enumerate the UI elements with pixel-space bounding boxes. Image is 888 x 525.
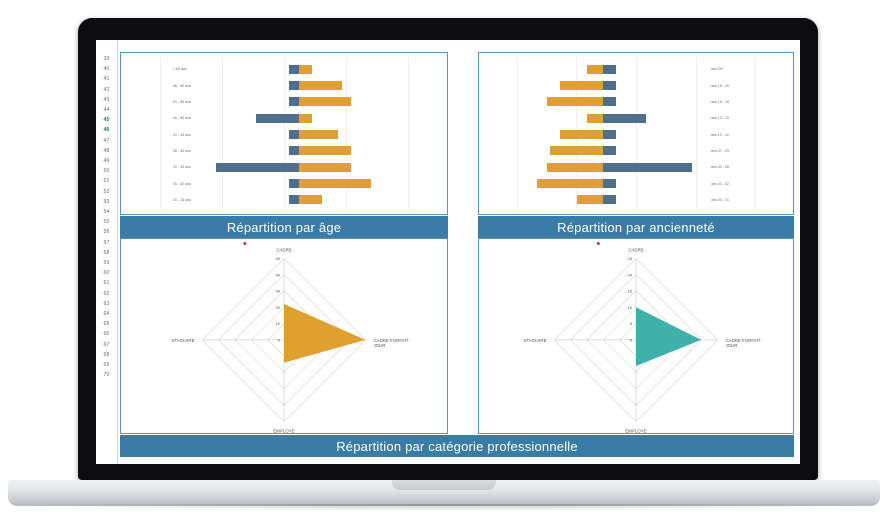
bar-segment-hommes	[289, 195, 299, 204]
bar-row	[121, 146, 447, 155]
radar-tick-label: 20	[276, 305, 281, 310]
bar-category-label: 26 - 30 ans	[173, 182, 191, 186]
bar-row	[479, 130, 793, 139]
bar-category-label: ans 03 - 02	[711, 182, 729, 186]
row-header-45[interactable]: 45	[104, 115, 110, 125]
row-header-65[interactable]: 65	[104, 319, 110, 329]
bar-segment-hommes	[289, 179, 299, 188]
row-header-53[interactable]: 53	[104, 197, 110, 207]
bar-segment-hommes	[603, 65, 616, 74]
bar-row	[121, 179, 447, 188]
radar-tick-label: 5	[630, 321, 633, 326]
bar-category-label: ans 16 - 18	[711, 100, 729, 104]
row-header-51[interactable]: 51	[104, 176, 110, 186]
bar-row	[479, 65, 793, 74]
radar-axis-label: STAGIAIRE	[523, 338, 546, 343]
radar-axis-label: STAGIAIRE	[171, 338, 194, 343]
bar-category-label: ans 13 - 15	[711, 116, 729, 120]
bar-category-label: 46 - 50 ans	[173, 116, 191, 120]
radar-tick-label: 25	[628, 256, 633, 261]
radar-axis-label: CADRE	[628, 247, 643, 252]
row-header-62[interactable]: 62	[104, 289, 110, 299]
row-header-60[interactable]: 60	[104, 268, 110, 278]
bar-segment-femmes	[547, 163, 603, 172]
radar-tick-label: 15	[628, 289, 633, 294]
radar-axis-label: JOUR	[725, 343, 737, 348]
radar-axis-label: JOUR	[373, 343, 385, 348]
bar-segment-femmes	[299, 114, 312, 123]
bar-chart-anciennete: ans 20+ans 18 - 20ans 16 - 18ans 13 - 15…	[479, 53, 793, 214]
radar-tick-label: 10	[276, 321, 281, 326]
bar-segment-hommes	[603, 81, 616, 90]
row-header-48[interactable]: 48	[104, 146, 110, 156]
laptop-shadow	[28, 504, 860, 511]
row-header-57[interactable]: 57	[104, 238, 110, 248]
row-header-42[interactable]: 42	[104, 85, 110, 95]
row-header-70[interactable]: 70	[104, 370, 110, 380]
bar-row	[121, 97, 447, 106]
bar-segment-hommes	[216, 163, 299, 172]
row-header-39[interactable]: 39	[104, 54, 110, 64]
row-header-68[interactable]: 68	[104, 350, 110, 360]
bar-category-label: 56 - 60 ans	[173, 84, 191, 88]
bar-row	[479, 195, 793, 204]
radar-series-area	[284, 304, 365, 363]
radar-tick-label: 30	[276, 289, 281, 294]
bar-category-label: ans 07 - 09	[711, 149, 729, 153]
row-header-61[interactable]: 61	[104, 278, 110, 288]
bar-category-label: 31 - 35 ans	[173, 165, 191, 169]
row-header-54[interactable]: 54	[104, 207, 110, 217]
bar-row	[121, 81, 447, 90]
bar-segment-hommes	[289, 146, 299, 155]
bar-category-label: ans 10 - 12	[711, 133, 729, 137]
row-header-69[interactable]: 69	[104, 360, 110, 370]
radar-tick-label: 20	[628, 272, 633, 277]
laptop-base-notch	[392, 480, 496, 490]
bar-segment-hommes	[289, 65, 299, 74]
bar-chart-age: + 60 ans56 - 60 ans51 - 55 ans46 - 50 an…	[121, 53, 447, 214]
bar-segment-femmes	[587, 114, 604, 123]
bar-row	[479, 114, 793, 123]
row-header-56[interactable]: 56	[104, 227, 110, 237]
bar-segment-femmes	[560, 130, 603, 139]
bar-row	[479, 179, 793, 188]
row-header-44[interactable]: 44	[104, 105, 110, 115]
bar-segment-hommes	[289, 130, 299, 139]
chart-panel-categorie-global[interactable]: 01020304050CADRECADRE FORFAITJOUREMPLOYE…	[120, 238, 448, 434]
marker-dot-icon	[597, 242, 600, 245]
bar-segment-femmes	[550, 146, 603, 155]
marker-dot-icon	[243, 242, 246, 245]
bar-segment-femmes	[299, 97, 352, 106]
chart-panel-anciennete[interactable]: ans 20+ans 18 - 20ans 16 - 18ans 13 - 15…	[478, 52, 794, 215]
radar-chart-categorie-detail: 0510152025CADRECADRE FORFAITJOUREMPLOYES…	[479, 239, 793, 433]
bar-row	[479, 146, 793, 155]
row-header-46[interactable]: 46	[104, 125, 110, 135]
bar-segment-hommes	[603, 130, 616, 139]
row-header-64[interactable]: 64	[104, 309, 110, 319]
bar-category-label: 51 - 55 ans	[173, 100, 191, 104]
bar-segment-femmes	[299, 130, 339, 139]
screenshot-stage: 3940414243444546474849505152535455565758…	[0, 0, 888, 525]
bar-segment-hommes	[289, 81, 299, 90]
row-header-50[interactable]: 50	[104, 166, 110, 176]
bar-category-label: 36 - 40 ans	[173, 149, 191, 153]
chart-panel-age[interactable]: + 60 ans56 - 60 ans51 - 55 ans46 - 50 an…	[120, 52, 448, 215]
bar-category-label: 41 - 45 ans	[173, 133, 191, 137]
bar-row	[121, 195, 447, 204]
bar-segment-femmes	[577, 195, 603, 204]
bar-segment-hommes	[603, 163, 692, 172]
bar-row	[121, 163, 447, 172]
row-header-47[interactable]: 47	[104, 136, 110, 146]
row-header-41[interactable]: 41	[104, 74, 110, 84]
bar-category-label: ans 20+	[711, 67, 724, 71]
bar-row	[479, 97, 793, 106]
radar-tick-label: 10	[628, 305, 633, 310]
radar-axis-label: EMPLOYE	[273, 428, 294, 433]
bar-segment-hommes	[289, 97, 299, 106]
bar-segment-femmes	[299, 195, 322, 204]
bar-segment-femmes	[299, 146, 352, 155]
row-header-66[interactable]: 66	[104, 329, 110, 339]
row-header-40[interactable]: 40	[104, 64, 110, 74]
bar-segment-hommes	[603, 195, 616, 204]
laptop-screen: 3940414243444546474849505152535455565758…	[96, 40, 800, 464]
bar-category-label: + 60 ans	[173, 67, 187, 71]
row-header-gutter[interactable]: 3940414243444546474849505152535455565758…	[96, 40, 118, 464]
radar-tick-label: 40	[276, 272, 281, 277]
bar-segment-hommes	[603, 114, 646, 123]
bar-segment-hommes	[603, 146, 616, 155]
bar-segment-hommes	[256, 114, 299, 123]
row-header-59[interactable]: 59	[104, 258, 110, 268]
row-header-52[interactable]: 52	[104, 187, 110, 197]
bar-segment-hommes	[603, 179, 616, 188]
dashboard-grid: + 60 ans56 - 60 ans51 - 55 ans46 - 50 an…	[120, 52, 794, 458]
bar-row	[121, 65, 447, 74]
radar-tick-label: 50	[276, 256, 281, 261]
row-header-55[interactable]: 55	[104, 217, 110, 227]
row-header-63[interactable]: 63	[104, 299, 110, 309]
bar-segment-hommes	[603, 97, 616, 106]
bar-segment-femmes	[299, 163, 352, 172]
bar-segment-femmes	[299, 65, 312, 74]
bar-row	[479, 81, 793, 90]
radar-chart-categorie-global: 01020304050CADRECADRE FORFAITJOUREMPLOYE…	[121, 239, 447, 433]
radar-series-area	[636, 307, 701, 366]
row-header-49[interactable]: 49	[104, 156, 110, 166]
bar-category-label: ans 00 - 01	[711, 198, 729, 202]
caption-anciennete: Répartition par ancienneté	[478, 216, 794, 238]
bar-segment-femmes	[560, 81, 603, 90]
bar-row	[479, 163, 793, 172]
spreadsheet-surface[interactable]: 3940414243444546474849505152535455565758…	[96, 40, 800, 464]
bar-segment-femmes	[587, 65, 604, 74]
bar-row	[121, 130, 447, 139]
bar-row	[121, 114, 447, 123]
row-header-58[interactable]: 58	[104, 248, 110, 258]
bar-segment-femmes	[547, 97, 603, 106]
bar-category-label: ans 18 - 20	[711, 84, 729, 88]
radar-axis-label: EMPLOYE	[625, 428, 646, 433]
row-header-43[interactable]: 43	[104, 95, 110, 105]
bar-segment-femmes	[537, 179, 603, 188]
bar-segment-femmes	[299, 179, 372, 188]
bar-category-label: 20 - 25 ans	[173, 198, 191, 202]
chart-panel-categorie-detail[interactable]: 0510152025CADRECADRE FORFAITJOUREMPLOYES…	[478, 238, 794, 434]
bar-segment-femmes	[299, 81, 342, 90]
bar-category-label: ans 04 - 06	[711, 165, 729, 169]
caption-categorie: Répartition par catégorie professionnell…	[120, 435, 794, 457]
caption-age: Répartition par âge	[120, 216, 448, 238]
radar-axis-label: CADRE	[276, 247, 291, 252]
row-header-67[interactable]: 67	[104, 340, 110, 350]
